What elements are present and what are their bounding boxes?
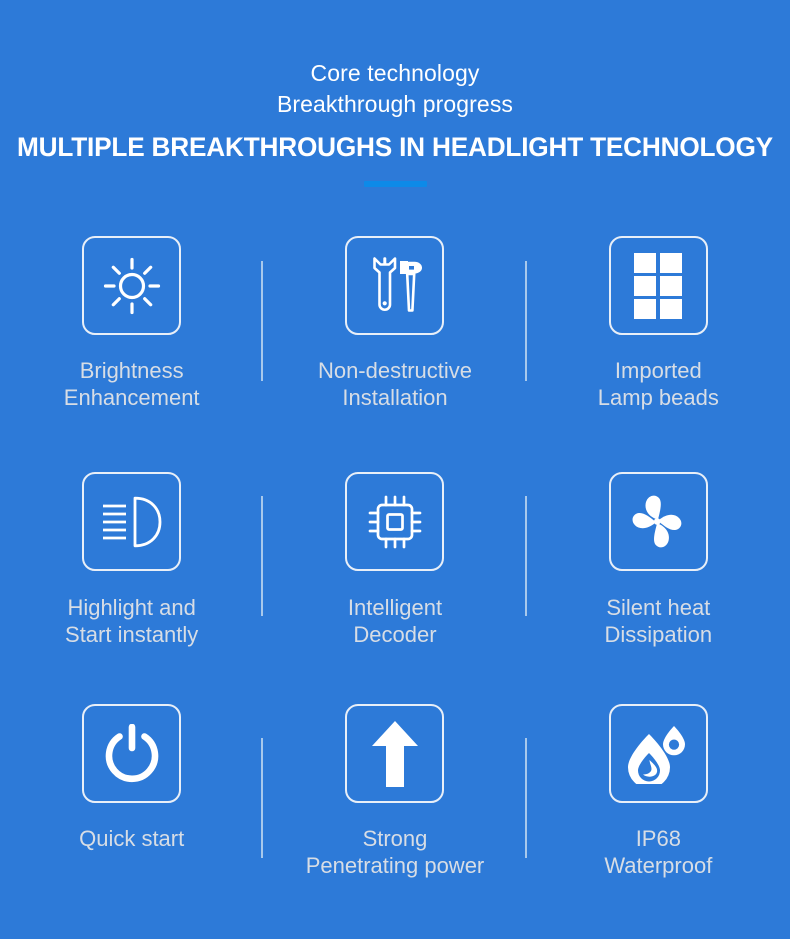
feature-label-line-1: IP68: [604, 825, 712, 852]
eyebrow-line-2: Breakthrough progress: [0, 89, 790, 120]
feature-label: Imported Lamp beads: [598, 357, 719, 411]
feature-label: Brightness Enhancement: [64, 357, 200, 411]
feature-card-heat-dissipation[interactable]: Silent heat Dissipation: [527, 448, 790, 690]
feature-label-line-1: Highlight and: [65, 594, 198, 621]
feature-label-line-2: Lamp beads: [598, 384, 719, 411]
feature-label-line-1: Non-destructive: [318, 357, 472, 384]
accent-underline: [364, 181, 427, 187]
feature-card-decoder[interactable]: Intelligent Decoder: [263, 448, 526, 690]
icon-frame: [345, 704, 444, 803]
feature-label-line-2: Decoder: [348, 621, 442, 648]
up-arrow-icon: [371, 721, 419, 787]
lamp-beads-grid-icon: [634, 253, 682, 319]
feature-label: Quick start: [79, 825, 184, 852]
feature-label-line-2: Enhancement: [64, 384, 200, 411]
feature-label: Strong Penetrating power: [306, 825, 485, 879]
feature-card-waterproof[interactable]: IP68 Waterproof: [527, 690, 790, 930]
feature-label-line-1: Brightness: [64, 357, 200, 384]
power-button-icon: [103, 724, 161, 784]
header: Core technology Breakthrough progress MU…: [0, 0, 790, 187]
page-title: MULTIPLE BREAKTHROUGHS IN HEADLIGHT TECH…: [12, 132, 778, 163]
icon-frame: [82, 704, 181, 803]
feature-label-line-1: Strong: [306, 825, 485, 852]
feature-card-quick-start[interactable]: Quick start: [0, 690, 263, 930]
feature-label-line-1: Silent heat: [605, 594, 713, 621]
feature-card-penetrating-power[interactable]: Strong Penetrating power: [263, 690, 526, 930]
eyebrow-text: Core technology Breakthrough progress: [0, 58, 790, 120]
promo-banner: Core technology Breakthrough progress MU…: [0, 0, 790, 939]
icon-frame: [82, 236, 181, 335]
fan-icon: [626, 491, 690, 553]
icon-frame: [345, 236, 444, 335]
feature-label: IP68 Waterproof: [604, 825, 712, 879]
icon-frame: [345, 472, 444, 571]
feature-label-line-2: Dissipation: [605, 621, 713, 648]
icon-frame: [82, 472, 181, 571]
feature-label-line-1: Quick start: [79, 825, 184, 852]
feature-label: Intelligent Decoder: [348, 594, 442, 648]
icon-frame: [609, 236, 708, 335]
feature-card-installation[interactable]: Non-destructive Installation: [263, 213, 526, 448]
headlight-beam-icon: [101, 496, 163, 548]
microchip-icon: [365, 492, 425, 552]
icon-frame: [609, 472, 708, 571]
feature-card-lamp-beads[interactable]: Imported Lamp beads: [527, 213, 790, 448]
feature-label-line-2: Waterproof: [604, 852, 712, 879]
eyebrow-line-1: Core technology: [0, 58, 790, 89]
water-drops-icon: [626, 724, 690, 784]
feature-label-line-2: Installation: [318, 384, 472, 411]
feature-label: Highlight and Start instantly: [65, 594, 198, 648]
sun-icon: [103, 257, 161, 315]
tools-wrench-hammer-icon: [366, 255, 424, 317]
feature-label: Non-destructive Installation: [318, 357, 472, 411]
feature-label-line-2: Penetrating power: [306, 852, 485, 879]
feature-label-line-1: Imported: [598, 357, 719, 384]
feature-label: Silent heat Dissipation: [605, 594, 713, 648]
feature-label-line-1: Intelligent: [348, 594, 442, 621]
feature-label-line-2: Start instantly: [65, 621, 198, 648]
feature-grid: Brightness Enhancement Non-d: [0, 213, 790, 930]
feature-card-highlight[interactable]: Highlight and Start instantly: [0, 448, 263, 690]
icon-frame: [609, 704, 708, 803]
feature-card-brightness[interactable]: Brightness Enhancement: [0, 213, 263, 448]
